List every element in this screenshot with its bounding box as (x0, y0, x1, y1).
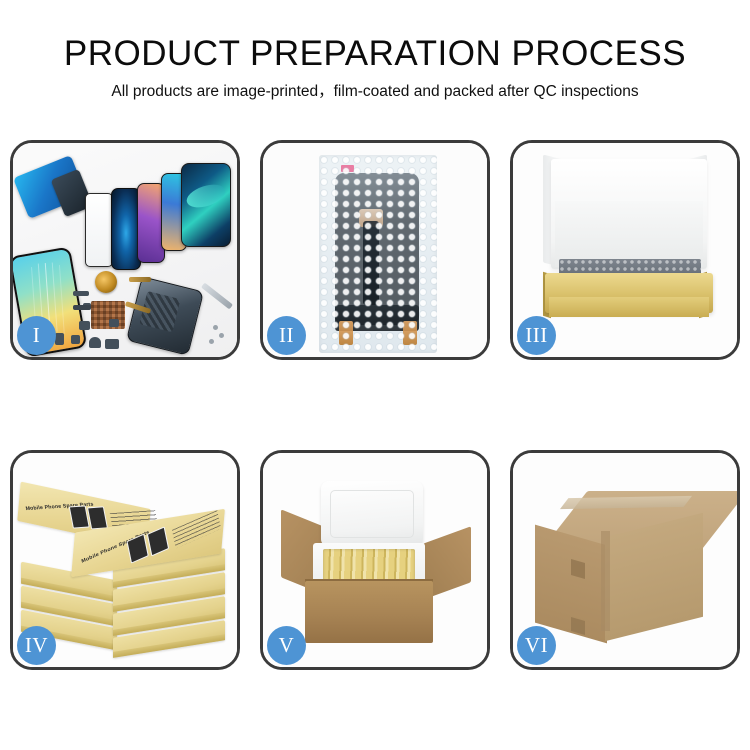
box-product-image (87, 506, 108, 529)
step-badge-6: VI (517, 626, 556, 665)
process-step-4[interactable]: Mobile Phone Spare Parts Mobile Phone Sp… (10, 450, 240, 670)
process-step-3[interactable]: III (510, 140, 740, 360)
screw-part (219, 333, 224, 338)
box-inner-wall (555, 201, 703, 267)
step-badge-5: V (267, 626, 306, 665)
step-badge-2: II (267, 316, 306, 355)
small-part (79, 321, 90, 330)
bubble-wrap-bag (319, 155, 437, 353)
page-subtitle: All products are image-printed，film-coat… (0, 81, 750, 103)
step-badge-1: I (17, 316, 56, 355)
page-header: PRODUCT PREPARATION PROCESS All products… (0, 0, 750, 103)
step-badge-4: IV (17, 626, 56, 665)
tempered-glass-panel (85, 193, 113, 267)
bubble-texture (319, 155, 437, 353)
flex-cable-strip (73, 305, 91, 310)
gold-box-front (549, 297, 709, 317)
copper-coil-part (95, 271, 117, 293)
screw-part (213, 325, 218, 330)
small-part (105, 339, 119, 349)
process-step-5[interactable]: V (260, 450, 490, 670)
box-product-image (147, 526, 169, 556)
small-part (73, 291, 89, 296)
small-part (55, 333, 64, 345)
process-step-6[interactable]: VI (510, 450, 740, 670)
small-part (109, 319, 119, 327)
box-spec-lines (172, 510, 221, 548)
process-step-1[interactable]: I (10, 140, 240, 360)
process-step-grid: I II (10, 140, 740, 686)
flex-cable-strip (129, 277, 151, 282)
shipping-carton-body (305, 581, 433, 643)
small-part (71, 335, 80, 344)
process-step-2[interactable]: II (260, 140, 490, 360)
gold-boxes-inside (323, 549, 415, 583)
chip-array-part (91, 301, 125, 329)
small-part (89, 337, 101, 348)
foam-box-lid (321, 481, 423, 547)
carton-vertical-seam (601, 531, 610, 631)
step-badge-3: III (517, 316, 556, 355)
lcd-screen-wave (181, 163, 231, 247)
page-title: PRODUCT PREPARATION PROCESS (0, 34, 750, 74)
packing-tape-top (560, 496, 692, 509)
screw-part (209, 339, 214, 344)
